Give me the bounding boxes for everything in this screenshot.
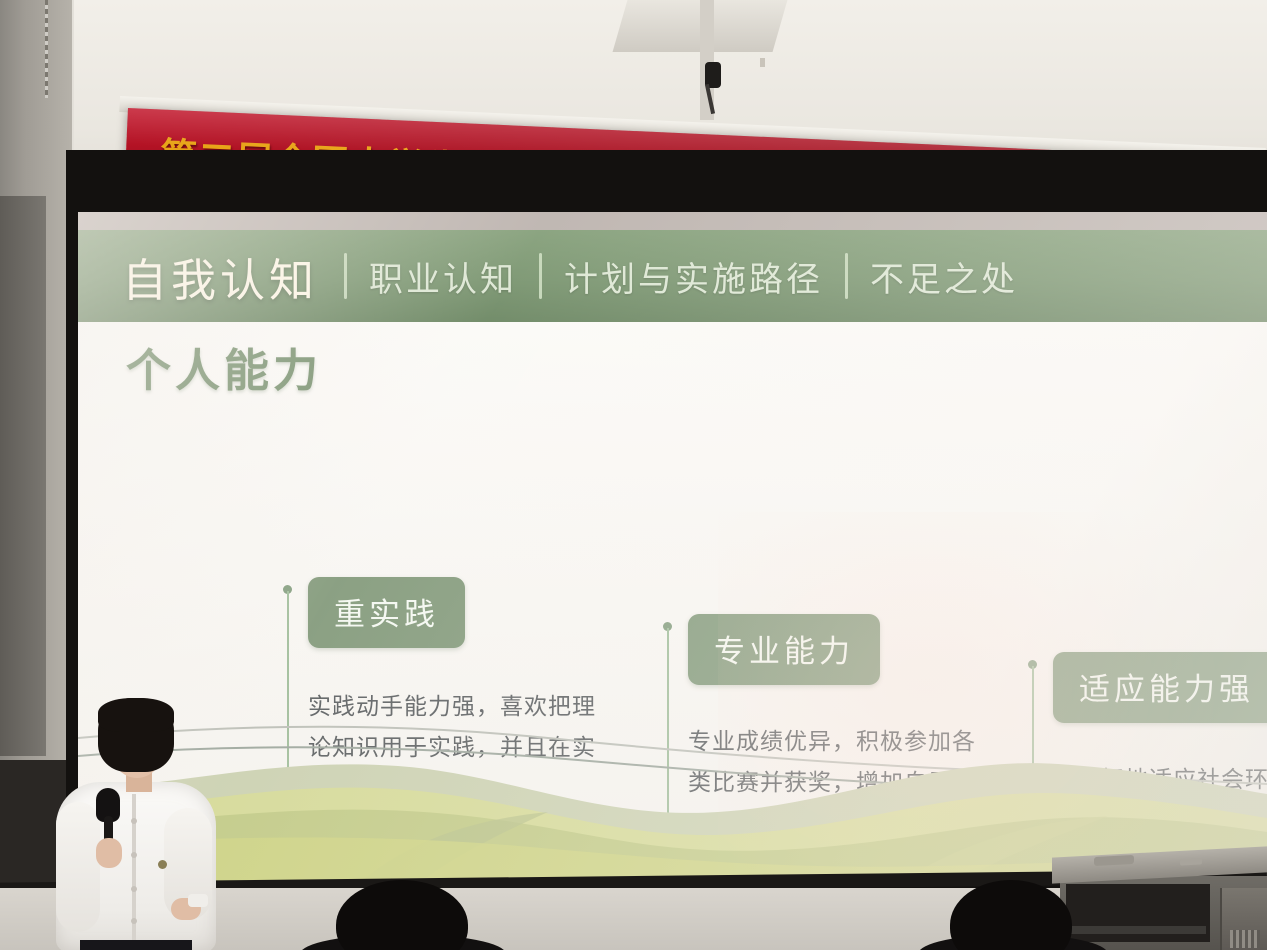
shirt-button: [131, 852, 137, 858]
ability-card-professional: 专业能力 专业成绩优异，积极参加各类比赛并获奖，增加自己处理稿件的能力和文学素养…: [608, 614, 880, 685]
presenter-lower-body: [80, 940, 192, 950]
projection-screen: 自我认知 职业认知 计划与实施路径 不足之处 个人能力 重实践 实践动手能力强，…: [78, 212, 1267, 884]
tab-plan-and-path[interactable]: 计划与实施路径: [542, 252, 845, 301]
wall-left-shadow: [0, 196, 46, 756]
desk-vent: [1230, 930, 1260, 948]
wall-mark: [760, 58, 765, 67]
tab-self-awareness[interactable]: 自我认知: [122, 244, 344, 309]
hanging-chain: [45, 0, 48, 98]
slide-nav: 自我认知 职业认知 计划与实施路径 不足之处: [78, 230, 1267, 322]
presenter-hand-on-mic: [96, 838, 122, 868]
presenter-fringe: [98, 698, 174, 732]
slide-content: 个人能力 重实践 实践动手能力强，喜欢把理论知识用于实践，并且在实践中寻找真理 …: [78, 322, 1267, 884]
presenter: [36, 690, 226, 950]
card-heading: 专业能力: [688, 614, 880, 685]
projection-screen-frame: 自我认知 职业认知 计划与实施路径 不足之处 个人能力 重实践 实践动手能力强，…: [66, 150, 1267, 890]
tab-shortcomings[interactable]: 不足之处: [848, 252, 1040, 301]
page-title: 个人能力: [126, 334, 322, 399]
lapel-pin-icon: [158, 860, 167, 869]
presenter-left-arm: [56, 802, 100, 932]
tab-career-awareness[interactable]: 职业认知: [347, 252, 539, 301]
podium-desk: [1052, 852, 1267, 950]
shirt-button: [131, 918, 137, 924]
ability-card-practice: 重实践 实践动手能力强，喜欢把理论知识用于实践，并且在实践中寻找真理: [228, 577, 465, 648]
shirt-button: [131, 886, 137, 892]
shirt-button: [131, 818, 137, 824]
nav-separator: [344, 253, 347, 299]
card-heading: 重实践: [308, 577, 465, 648]
nav-separator: [845, 253, 848, 299]
nav-separator: [539, 253, 542, 299]
desk-shelf: [1070, 926, 1206, 934]
desk-object-small: [1180, 858, 1202, 865]
screen-top-band: [78, 212, 1267, 230]
lecture-hall-photo: 第二届全国大学生职业规划大赛暨2024年北海艺术设计学院大学生职业生涯规划大赛校…: [0, 0, 1267, 950]
presenter-clicker: [188, 894, 208, 907]
